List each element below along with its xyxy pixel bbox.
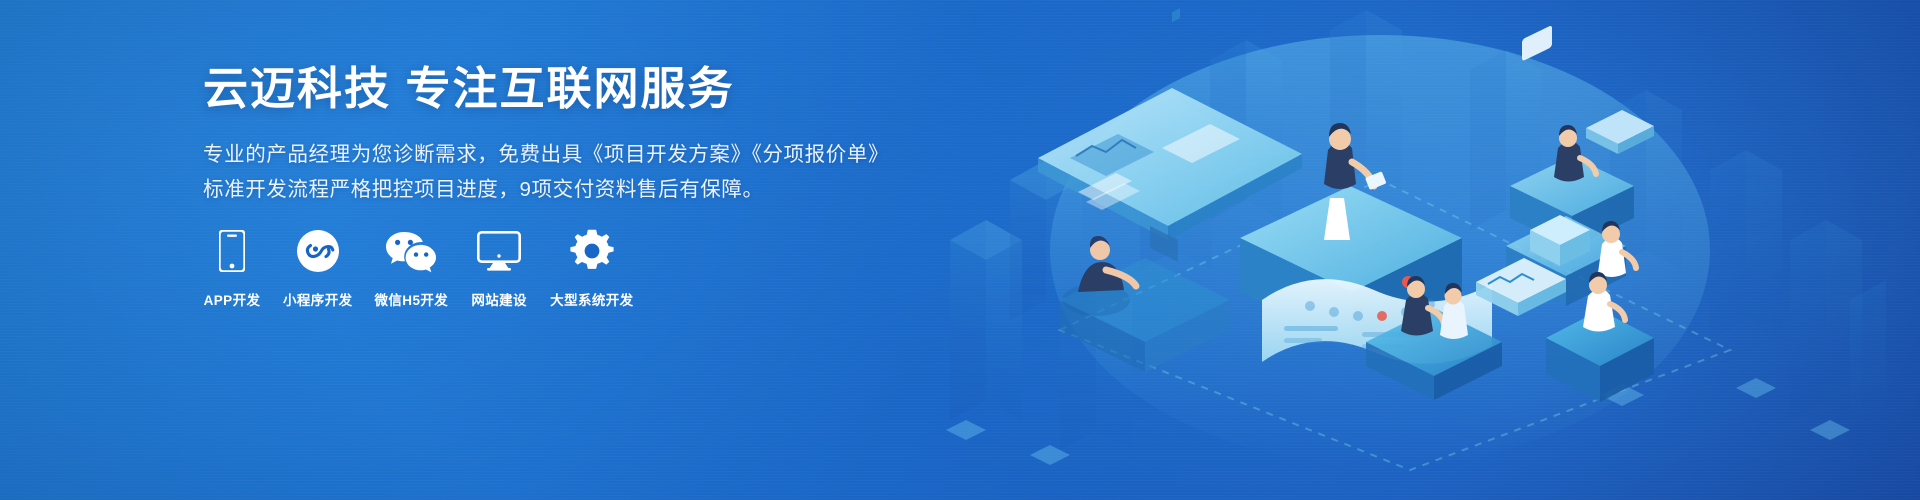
- service-list: APP开发 小程序开发: [203, 228, 634, 309]
- service-label: 大型系统开发: [550, 289, 633, 309]
- service-label: 小程序开发: [283, 289, 353, 309]
- banner-content: 云迈科技 专注互联网服务 专业的产品经理为您诊断需求，免费出具《项目开发方案》《…: [203, 62, 963, 208]
- isometric-illustration: [910, 0, 1920, 500]
- subtitle-line-2: 标准开发流程严格把控项目进度，9项交付资料售后有保障。: [203, 172, 963, 207]
- hero-banner: 云迈科技 专注互联网服务 专业的产品经理为您诊断需求，免费出具《项目开发方案》《…: [0, 0, 1920, 500]
- service-item-large-system[interactable]: 大型系统开发: [550, 228, 633, 309]
- gear-icon: [563, 228, 621, 274]
- mini-program-icon: [289, 228, 347, 274]
- wechat-icon: [382, 228, 440, 274]
- banner-subtitle: 专业的产品经理为您诊断需求，免费出具《项目开发方案》《分项报价单》 标准开发流程…: [203, 137, 963, 208]
- service-item-website[interactable]: 网站建设: [470, 228, 528, 309]
- service-label: 微信H5开发: [375, 289, 449, 309]
- service-label: 网站建设: [471, 289, 527, 309]
- monitor-icon: [470, 228, 528, 274]
- service-item-mini-program[interactable]: 小程序开发: [283, 228, 353, 309]
- banner-headline: 云迈科技 专注互联网服务: [203, 62, 963, 115]
- subtitle-line-1: 专业的产品经理为您诊断需求，免费出具《项目开发方案》《分项报价单》: [203, 137, 963, 172]
- service-item-wechat-h5[interactable]: 微信H5开发: [375, 228, 449, 309]
- service-label: APP开发: [204, 289, 261, 309]
- mobile-phone-icon: [203, 228, 261, 274]
- service-item-app[interactable]: APP开发: [203, 228, 261, 309]
